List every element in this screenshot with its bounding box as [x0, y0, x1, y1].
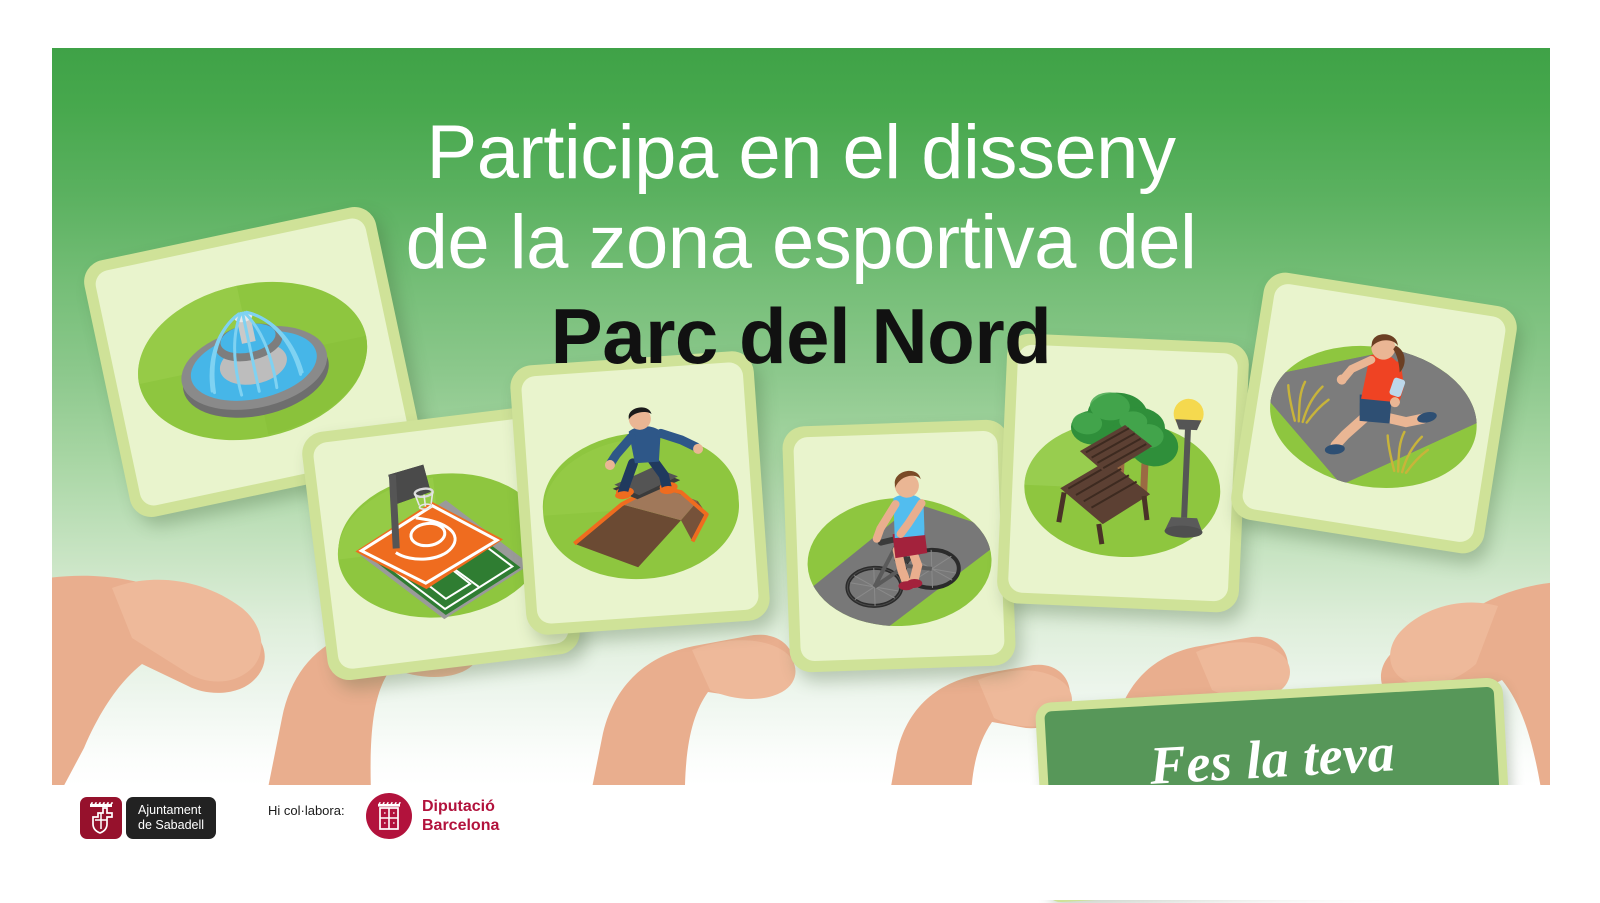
card-bike[interactable]: [782, 419, 1016, 673]
card-bike-face: [793, 431, 1005, 662]
cyclist-icon: [793, 431, 1005, 662]
sabadell-line-2: de Sabadell: [138, 818, 204, 833]
sabadell-crest-icon: [87, 802, 115, 834]
card-runner[interactable]: [1228, 270, 1520, 557]
footer: Ajuntament de Sabadell Hi col·labora: Di…: [0, 785, 1600, 900]
runner-icon: [1241, 282, 1508, 544]
card-skate-face: [521, 362, 760, 625]
diputacio-shield-icon: [375, 801, 403, 831]
diputacio-name: Diputació Barcelona: [422, 797, 499, 835]
bench-tree-lamp-icon: [1008, 344, 1239, 601]
logo-ajuntament-sabadell[interactable]: Ajuntament de Sabadell: [80, 797, 216, 839]
sabadell-name-plate: Ajuntament de Sabadell: [126, 797, 216, 839]
skateboarder-icon: [521, 362, 760, 625]
sabadell-shield-icon: [80, 797, 122, 839]
diputacio-crest-icon: [366, 793, 412, 839]
poster-canvas: Participa en el disseny de la zona espor…: [0, 0, 1600, 900]
card-bench[interactable]: [996, 333, 1250, 613]
diputacio-line-1: Diputació: [422, 797, 499, 816]
collaboration-label: Hi col·labora:: [268, 803, 345, 818]
card-skate[interactable]: [509, 350, 771, 636]
diputacio-line-2: Barcelona: [422, 816, 499, 835]
card-bench-face: [1008, 344, 1239, 601]
logo-diputacio-barcelona[interactable]: Diputació Barcelona: [366, 793, 499, 839]
card-runner-face: [1241, 282, 1508, 544]
sabadell-line-1: Ajuntament: [138, 803, 204, 818]
title-line-1: Participa en el disseny: [52, 108, 1550, 198]
banner: Participa en el disseny de la zona espor…: [52, 48, 1550, 785]
